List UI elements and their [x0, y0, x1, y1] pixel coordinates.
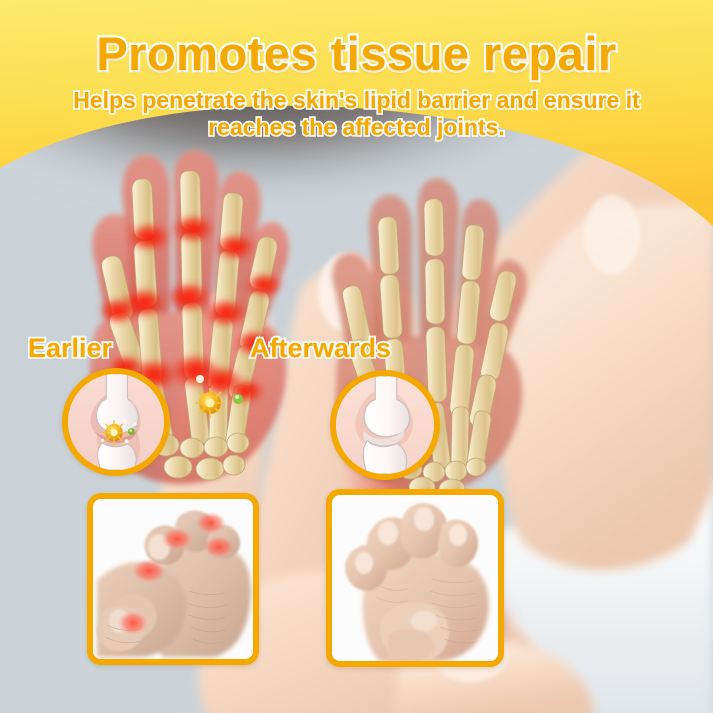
label-afterwards: Afterwards — [250, 333, 391, 364]
label-earlier: Earlier — [28, 333, 112, 364]
inset-photo-healthy — [326, 489, 504, 667]
inset-photo-arthritic — [87, 493, 259, 665]
product-banner: Promotes tissue repair Helps penetrate t… — [0, 0, 713, 713]
page-subtitle: Helps penetrate the skin's lipid barrier… — [0, 87, 713, 141]
joint-circle-after — [330, 370, 440, 480]
joint-circle-before — [62, 368, 170, 476]
header-text-block: Promotes tissue repair Helps penetrate t… — [0, 0, 713, 141]
page-title: Promotes tissue repair — [0, 28, 713, 81]
